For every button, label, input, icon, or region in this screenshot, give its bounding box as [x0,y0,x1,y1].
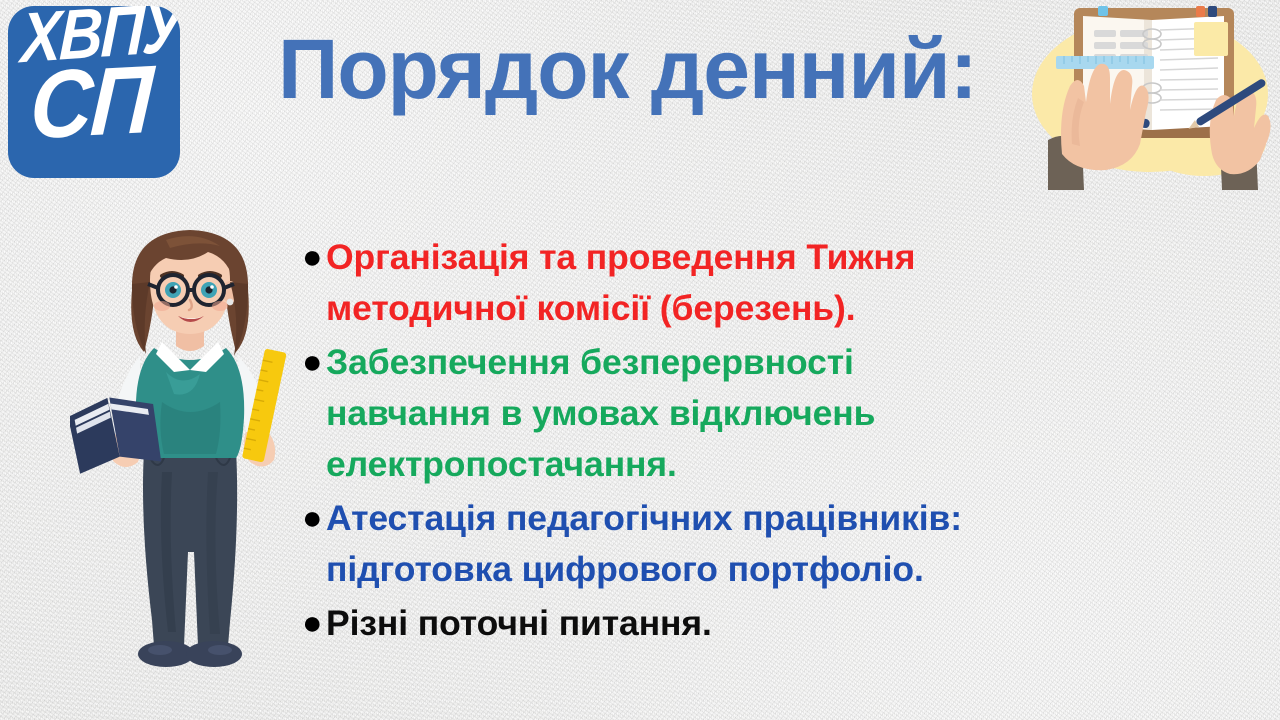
list-bullet-icon: ● [296,493,326,544]
list-bullet-icon: ● [296,598,326,649]
bookmark-orange [1196,6,1205,17]
teacher-earring [227,299,234,306]
list-item-label: Забезпечення безперервності навчання в у… [326,337,1026,490]
teacher-cheek-left [154,301,170,311]
sticky-note [1194,22,1228,56]
slide-canvas: ХВПУ СП Порядок денний: [0,0,1280,720]
list-item: ● Різні поточні питання. [296,598,1226,649]
list-item-label: Атестація педагогічних працівників: підг… [326,493,1026,595]
list-item-label: Різні поточні питання. [326,598,1226,649]
teacher-eye-glint-left [174,285,178,289]
agenda-list: ● Організація та проведення Тижня методи… [296,232,1226,652]
teacher-eye-glint-right [210,285,214,289]
list-item: ● Забезпечення безперервності навчання в… [296,337,1226,490]
teacher-shoe-left-highlight [148,645,172,655]
bookmark-blue [1098,6,1108,16]
page-title: Порядок денний: [278,24,977,115]
list-item-label: Організація та проведення Тижня методичн… [326,232,1026,334]
hands-writing-in-notebook-illustration [1026,0,1278,190]
list-item: ● Атестація педагогічних працівників: пі… [296,493,1226,595]
teacher-shoe-right-highlight [208,645,232,655]
logo-line-2: СП [28,52,154,154]
bookmark-navy [1208,6,1217,17]
list-item: ● Організація та проведення Тижня методи… [296,232,1226,334]
list-bullet-icon: ● [296,232,326,283]
hvpu-sp-logo: ХВПУ СП [8,6,180,178]
teacher-cheek-right [212,301,228,311]
list-bullet-icon: ● [296,337,326,388]
teacher-woman-with-book-and-ruler-illustration [70,222,310,687]
teacher-pants [143,450,237,646]
